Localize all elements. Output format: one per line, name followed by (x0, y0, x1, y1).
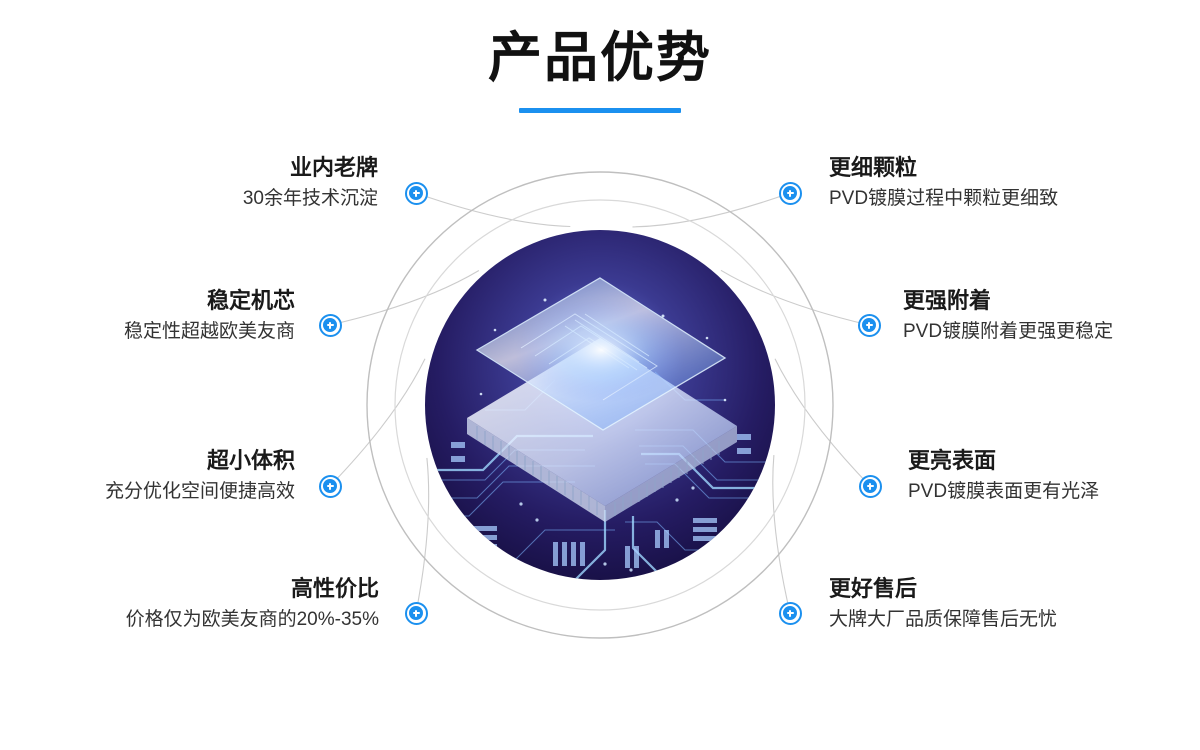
marker-stable-core[interactable] (319, 314, 342, 337)
feature-label-industry-veteran: 业内老牌30余年技术沉淀 (243, 153, 378, 215)
plus-vertical (415, 190, 417, 197)
feature-title-cost-performance: 高性价比 (126, 574, 379, 604)
connector-ultra-small-volume (330, 359, 425, 486)
marker-industry-veteran[interactable] (405, 182, 428, 205)
feature-title-stable-core: 稳定机芯 (124, 286, 295, 316)
plus-vertical (789, 190, 791, 197)
feature-desc-stronger-adhesion: PVD镀膜附着更强更稳定 (903, 316, 1113, 348)
plus-vertical (415, 610, 417, 617)
feature-label-ultra-small-volume: 超小体积充分优化空间便捷高效 (105, 446, 295, 508)
plus-vertical (789, 610, 791, 617)
feature-label-stable-core: 稳定机芯稳定性超越欧美友商 (124, 286, 295, 348)
marker-ultra-small-volume[interactable] (319, 475, 342, 498)
chip-icon (425, 230, 775, 580)
marker-brighter-surface[interactable] (859, 475, 882, 498)
feature-desc-stable-core: 稳定性超越欧美友商 (124, 316, 295, 348)
feature-label-brighter-surface: 更亮表面PVD镀膜表面更有光泽 (908, 446, 1099, 508)
marker-finer-particles[interactable] (779, 182, 802, 205)
marker-cost-performance[interactable] (405, 602, 428, 625)
connector-brighter-surface (775, 359, 870, 486)
plus-vertical (869, 483, 871, 490)
marker-better-after-sales[interactable] (779, 602, 802, 625)
feature-desc-cost-performance: 价格仅为欧美友商的20%-35% (126, 604, 379, 636)
feature-desc-ultra-small-volume: 充分优化空间便捷高效 (105, 476, 295, 508)
plus-vertical (868, 322, 870, 329)
feature-title-ultra-small-volume: 超小体积 (105, 446, 295, 476)
connector-cost-performance (416, 458, 429, 613)
feature-title-stronger-adhesion: 更强附着 (903, 286, 1113, 316)
connector-better-after-sales (773, 455, 790, 613)
feature-title-industry-veteran: 业内老牌 (243, 153, 378, 183)
plus-vertical (329, 483, 331, 490)
plus-vertical (329, 322, 331, 329)
feature-label-finer-particles: 更细颗粒PVD镀膜过程中颗粒更细致 (829, 153, 1058, 215)
feature-label-better-after-sales: 更好售后大牌大厂品质保障售后无忧 (829, 574, 1057, 636)
center-chip-image (425, 230, 775, 580)
feature-desc-finer-particles: PVD镀膜过程中颗粒更细致 (829, 183, 1058, 215)
feature-desc-better-after-sales: 大牌大厂品质保障售后无忧 (829, 604, 1057, 636)
infographic-canvas: 产品优势 (0, 0, 1200, 750)
feature-title-brighter-surface: 更亮表面 (908, 446, 1099, 476)
feature-label-stronger-adhesion: 更强附着PVD镀膜附着更强更稳定 (903, 286, 1113, 348)
feature-title-better-after-sales: 更好售后 (829, 574, 1057, 604)
feature-desc-brighter-surface: PVD镀膜表面更有光泽 (908, 476, 1099, 508)
marker-stronger-adhesion[interactable] (858, 314, 881, 337)
feature-title-finer-particles: 更细颗粒 (829, 153, 1058, 183)
feature-desc-industry-veteran: 30余年技术沉淀 (243, 183, 378, 215)
connector-finer-particles (633, 193, 791, 227)
feature-label-cost-performance: 高性价比价格仅为欧美友商的20%-35% (126, 574, 379, 636)
